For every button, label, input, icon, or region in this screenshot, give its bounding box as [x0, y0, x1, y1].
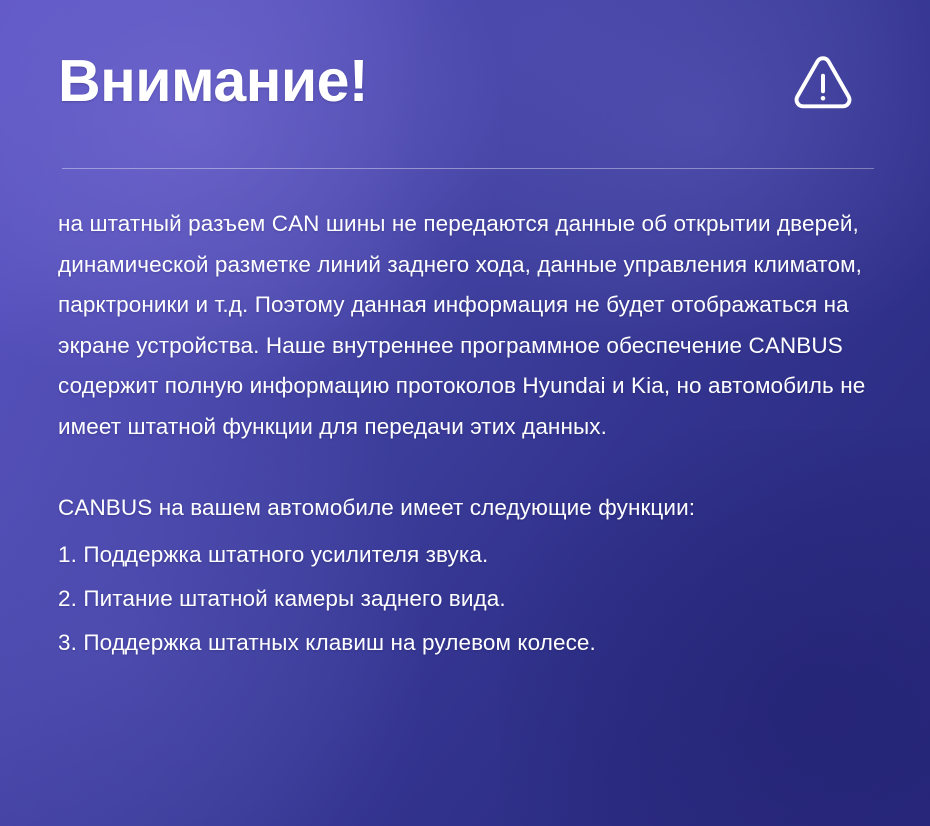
functions-list: 1. Поддержка штатного усилителя звука. 2…: [58, 533, 872, 665]
warning-triangle-icon: [792, 51, 854, 113]
functions-block: CANBUS на вашем автомобиле имеет следующ…: [58, 488, 872, 665]
warning-banner: Внимание! на штатный разъем CAN шины не …: [0, 0, 930, 826]
warning-paragraph: на штатный разъем CAN шины не передаются…: [58, 204, 872, 447]
functions-intro: CANBUS на вашем автомобиле имеет следующ…: [58, 488, 872, 529]
page-title: Внимание!: [58, 52, 368, 117]
header-divider: [62, 168, 874, 169]
banner-header: Внимание!: [58, 0, 872, 169]
list-item: 2. Питание штатной камеры заднего вида.: [58, 577, 872, 621]
banner-body: на штатный разъем CAN шины не передаются…: [58, 169, 872, 665]
list-item: 1. Поддержка штатного усилителя звука.: [58, 533, 872, 577]
list-item: 3. Поддержка штатных клавиш на рулевом к…: [58, 621, 872, 665]
banner-content: Внимание! на штатный разъем CAN шины не …: [0, 0, 930, 826]
